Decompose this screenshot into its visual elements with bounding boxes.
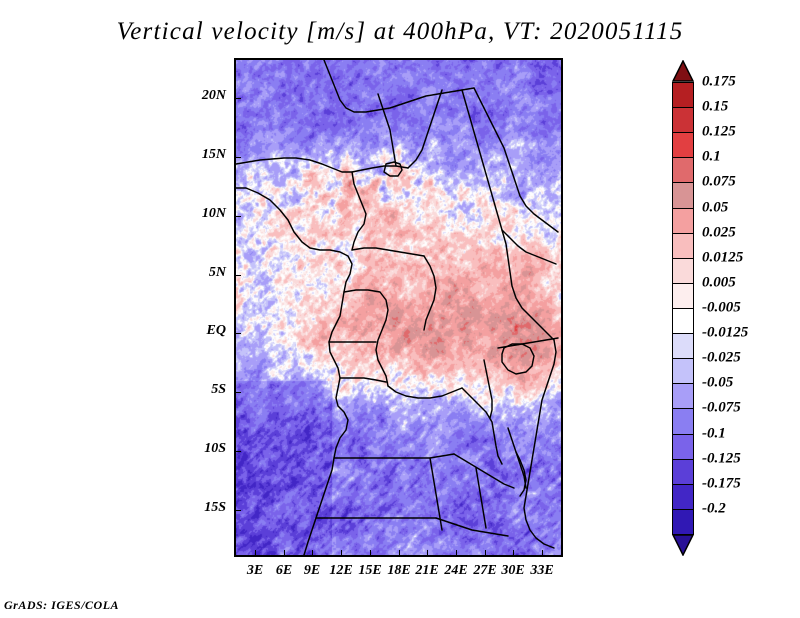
x-tick <box>312 550 313 556</box>
colorbar-segment <box>672 383 694 410</box>
y-tick <box>235 333 241 334</box>
colorbar-segment <box>672 107 694 134</box>
x-tick <box>370 550 371 556</box>
y-axis-label: 10N <box>178 206 226 222</box>
vertical-velocity-field <box>236 60 561 555</box>
y-tick <box>235 451 241 452</box>
colorbar-tick-label: -0.05 <box>702 375 733 392</box>
x-tick <box>341 550 342 556</box>
x-tick <box>427 550 428 556</box>
colorbar-segment <box>672 283 694 310</box>
colorbar-segment <box>672 509 694 536</box>
colorbar-max-arrow <box>672 60 694 82</box>
colorbar-tick-label: -0.1 <box>702 425 726 442</box>
x-tick <box>542 550 543 556</box>
y-tick <box>235 98 241 99</box>
colorbar-tick-label: -0.005 <box>702 300 741 317</box>
x-tick <box>456 550 457 556</box>
y-axis-label: 15N <box>178 147 226 163</box>
x-tick <box>513 550 514 556</box>
page-title: Vertical velocity [m/s] at 400hPa, VT: 2… <box>0 18 800 46</box>
colorbar-segment <box>672 484 694 511</box>
colorbar-segment <box>672 308 694 335</box>
colorbar-tick-label: 0.05 <box>702 199 728 216</box>
colorbar-tick-label: 0.075 <box>702 174 736 191</box>
colorbar-min-arrow <box>672 534 694 556</box>
colorbar-segment <box>672 333 694 360</box>
y-axis-label: 15S <box>178 500 226 516</box>
colorbar-segment <box>672 358 694 385</box>
x-tick <box>284 550 285 556</box>
y-tick <box>235 275 241 276</box>
colorbar: 0.1750.150.1250.10.0750.050.0250.01250.0… <box>672 60 696 556</box>
colorbar-tick-label: 0.0125 <box>702 249 743 266</box>
colorbar-segment <box>672 82 694 109</box>
grads-footer: GrADS: IGES/COLA <box>4 598 119 613</box>
colorbar-segment <box>672 233 694 260</box>
colorbar-segment <box>672 182 694 209</box>
colorbar-segment <box>672 208 694 235</box>
colorbar-tick-label: -0.075 <box>702 400 741 417</box>
x-axis-label: 33E <box>522 563 562 579</box>
colorbar-tick-label: 0.175 <box>702 74 736 91</box>
colorbar-tick-label: -0.125 <box>702 450 741 467</box>
colorbar-segment <box>672 459 694 486</box>
y-axis-label: 5N <box>178 265 226 281</box>
colorbar-segment <box>672 132 694 159</box>
colorbar-segment <box>672 434 694 461</box>
y-axis-label: 10S <box>178 441 226 457</box>
colorbar-tick-label: -0.0125 <box>702 325 748 342</box>
x-tick <box>485 550 486 556</box>
colorbar-tick-label: 0.1 <box>702 149 721 166</box>
colorbar-segment <box>672 157 694 184</box>
map-plot-panel <box>234 58 563 557</box>
colorbar-tick-label: 0.025 <box>702 224 736 241</box>
field-canvas <box>236 60 561 555</box>
y-axis-label: 5S <box>178 382 226 398</box>
colorbar-tick-label: 0.15 <box>702 99 728 116</box>
colorbar-segment <box>672 408 694 435</box>
y-axis-label: EQ <box>178 323 226 339</box>
colorbar-segment <box>672 258 694 285</box>
colorbar-tick-label: 0.005 <box>702 274 736 291</box>
colorbar-tick-label: -0.2 <box>702 500 726 517</box>
y-axis-label: 20N <box>178 88 226 104</box>
y-tick <box>235 216 241 217</box>
y-tick <box>235 510 241 511</box>
colorbar-tick-label: -0.025 <box>702 350 741 367</box>
colorbar-tick-label: 0.125 <box>702 124 736 141</box>
colorbar-tick-label: -0.175 <box>702 475 741 492</box>
x-tick <box>255 550 256 556</box>
y-tick <box>235 392 241 393</box>
x-tick <box>399 550 400 556</box>
y-tick <box>235 157 241 158</box>
